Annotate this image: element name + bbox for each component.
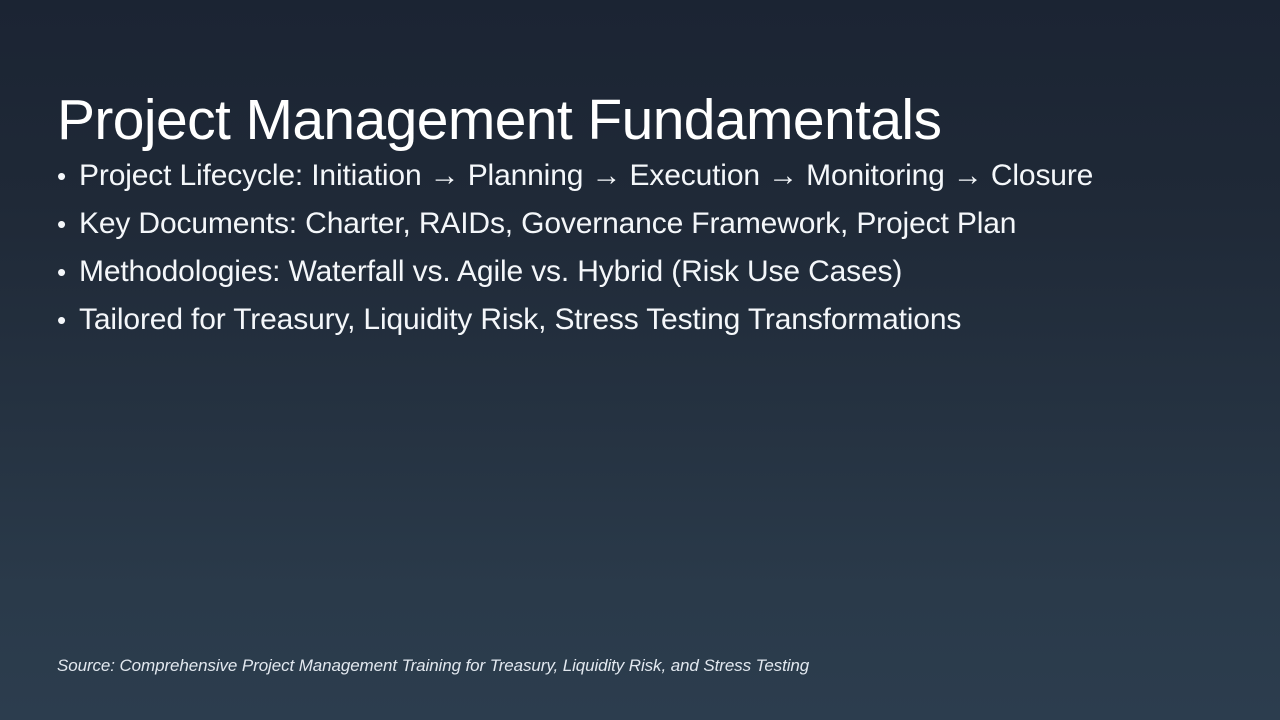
bullet-dot-icon: • [57, 200, 79, 248]
bullet-dot-icon: • [57, 296, 79, 344]
list-item-text: Key Documents: Charter, RAIDs, Governanc… [79, 200, 1016, 248]
list-item: • Methodologies: Waterfall vs. Agile vs.… [57, 248, 1237, 296]
list-item-text: Methodologies: Waterfall vs. Agile vs. H… [79, 248, 902, 296]
bullet-list: • Project Lifecycle: Initiation → Planni… [57, 152, 1237, 344]
list-item: • Tailored for Treasury, Liquidity Risk,… [57, 296, 1237, 344]
slide-title: Project Management Fundamentals [57, 90, 1217, 150]
source-note: Source: Comprehensive Project Management… [57, 656, 809, 676]
list-item: • Project Lifecycle: Initiation → Planni… [57, 152, 1237, 200]
presentation-slide: Project Management Fundamentals • Projec… [0, 0, 1280, 720]
list-item-text: Tailored for Treasury, Liquidity Risk, S… [79, 296, 961, 344]
list-item: • Key Documents: Charter, RAIDs, Governa… [57, 200, 1237, 248]
bullet-dot-icon: • [57, 248, 79, 296]
bullet-dot-icon: • [57, 152, 79, 200]
list-item-text: Project Lifecycle: Initiation → Planning… [79, 152, 1093, 200]
